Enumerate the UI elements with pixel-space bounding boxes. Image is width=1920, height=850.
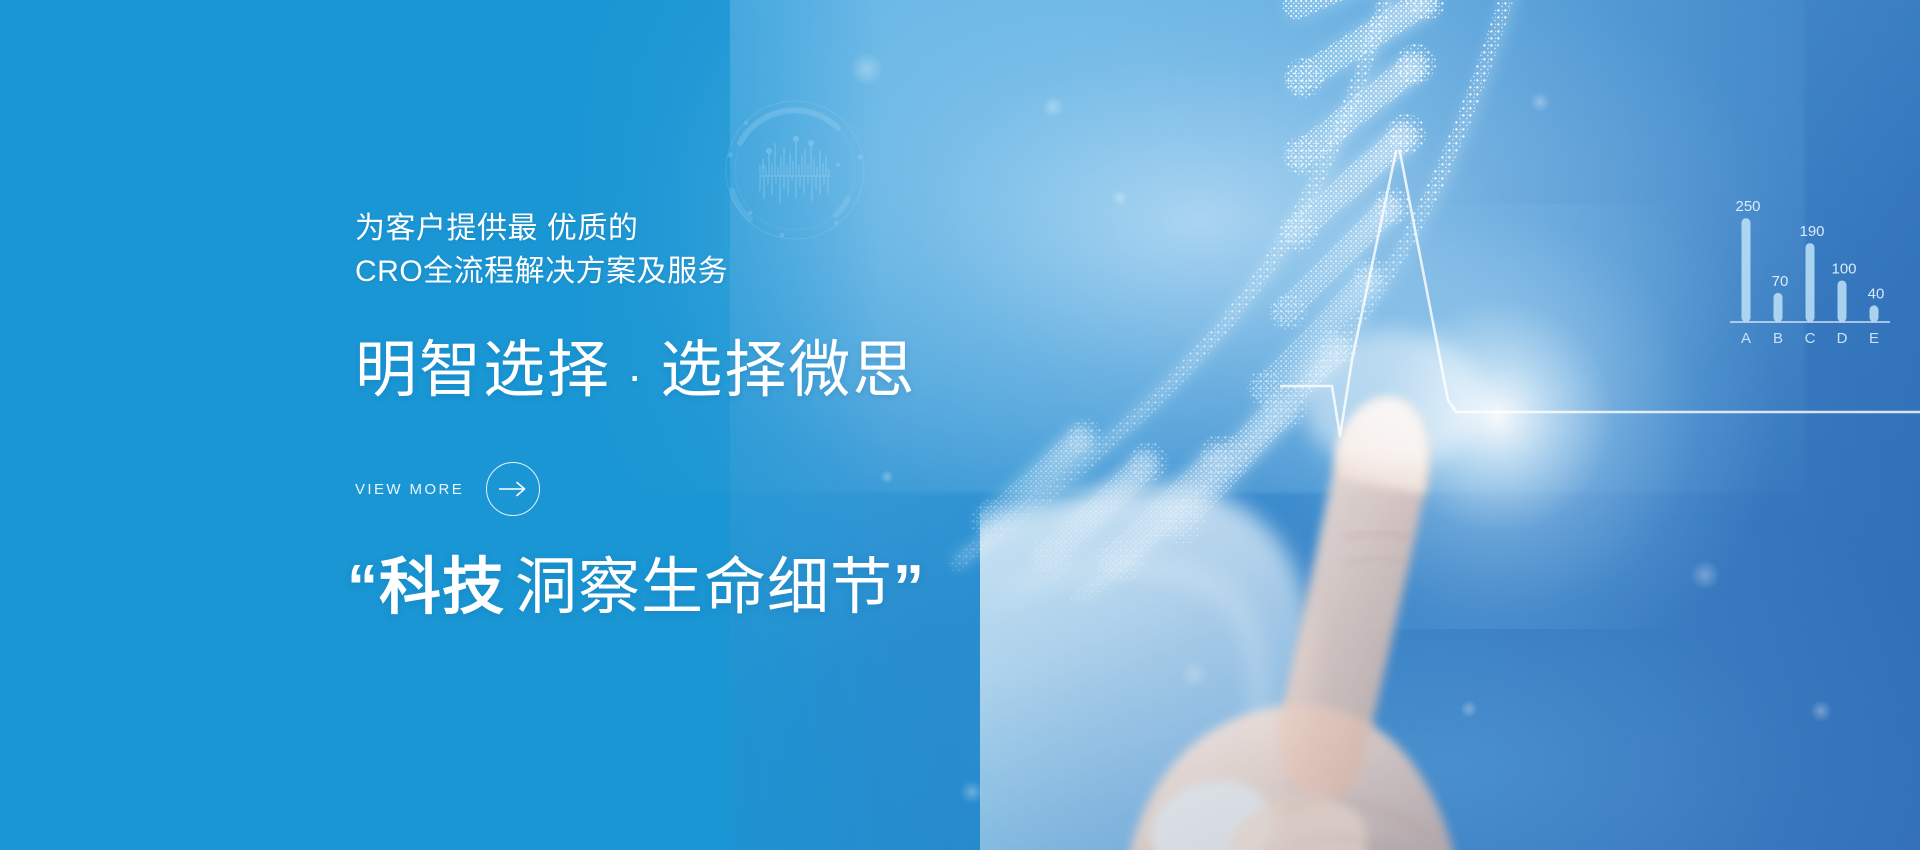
bar-category-label: A — [1741, 330, 1751, 347]
quote-strong-text: 科技 — [379, 553, 505, 622]
bar-value-label: 40 — [1868, 285, 1885, 302]
bar-B — [1774, 293, 1783, 322]
hero-subtitle-line2: CRO全流程解决方案及服务 — [355, 250, 728, 293]
bar-category-label: D — [1837, 330, 1848, 347]
bar-value-label: 190 — [1799, 223, 1824, 240]
view-more-label: VIEW MORE — [355, 481, 464, 498]
bar-value-label: 70 — [1772, 273, 1789, 290]
hero-banner: 250A70B190C100D40E 为客户提供最 优质的 CRO全流程解决方案… — [0, 0, 1920, 850]
bar-category-label: E — [1869, 330, 1879, 347]
hero-subtitle: 为客户提供最 优质的 CRO全流程解决方案及服务 — [355, 207, 728, 293]
bar-category-label: B — [1773, 330, 1783, 347]
bar-E — [1870, 305, 1879, 322]
hero-headline-left: 明智选择 — [355, 336, 611, 405]
quote-open-mark: “ — [347, 553, 379, 622]
quote-close-mark: ” — [893, 553, 925, 622]
bar-C — [1806, 243, 1815, 322]
hero-subtitle-line1: 为客户提供最 优质的 — [355, 212, 638, 245]
bar-value-label: 250 — [1735, 198, 1760, 215]
bar-D — [1838, 280, 1847, 322]
bokeh-dot — [1810, 700, 1832, 722]
view-more-button[interactable]: VIEW MORE — [355, 462, 540, 516]
hero-content: 为客户提供最 优质的 CRO全流程解决方案及服务 明智选择·选择微思 VIEW … — [355, 0, 1115, 850]
hero-headline: 明智选择·选择微思 — [355, 334, 916, 412]
bar-chart: 250A70B190C100D40E — [1718, 188, 1896, 360]
quote-light-text: 洞察生命细节 — [505, 553, 893, 622]
bar-A — [1742, 218, 1751, 322]
hero-headline-separator: · — [611, 349, 660, 401]
hero-quote: “科技洞察生命细节” — [347, 548, 925, 628]
bar-category-label: C — [1805, 330, 1816, 347]
bar-value-label: 100 — [1831, 260, 1856, 277]
hero-headline-right: 选择微思 — [660, 336, 916, 405]
arrow-right-icon[interactable] — [486, 462, 540, 516]
